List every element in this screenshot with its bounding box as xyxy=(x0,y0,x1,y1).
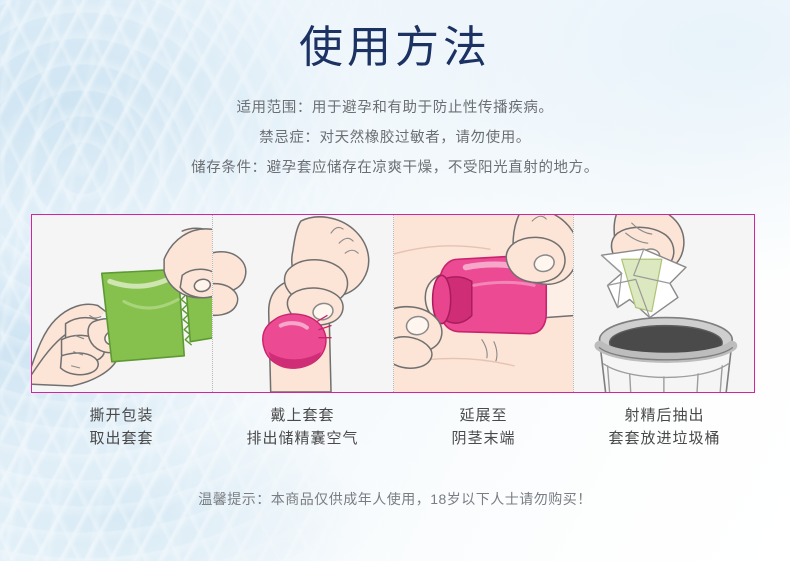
step-caption-2: 戴上套套 排出储精囊空气 xyxy=(212,404,393,450)
step-captions: 撕开包装 取出套套 戴上套套 排出储精囊空气 延展至 阴茎末端 射精后抽出 套套… xyxy=(31,404,755,450)
step-caption-4-line-1: 射精后抽出 xyxy=(574,404,755,427)
step-caption-3: 延展至 阴茎末端 xyxy=(393,404,574,450)
step-panel-3 xyxy=(393,215,574,392)
pinch-tip-illustration xyxy=(213,215,393,392)
step-panel-1 xyxy=(32,215,212,392)
description-line-1: 适用范围：用于避孕和有助于防止性传播疾病。 xyxy=(0,93,790,123)
description-line-2: 禁忌症：对天然橡胶过敏者，请勿使用。 xyxy=(0,123,790,153)
step-caption-1: 撕开包装 取出套套 xyxy=(31,404,212,450)
footer-notice: 温馨提示：本商品仅供成年人使用，18岁以下人士请勿购买！ xyxy=(0,489,790,509)
step-caption-4-line-2: 套套放进垃圾桶 xyxy=(574,427,755,450)
illustration-panels xyxy=(32,215,754,392)
description-line-3: 储存条件：避孕套应储存在凉爽干燥，不受阳光直射的地方。 xyxy=(0,153,790,183)
step-caption-1-line-2: 取出套套 xyxy=(31,427,212,450)
step-caption-3-line-2: 阴茎末端 xyxy=(393,427,574,450)
step-caption-2-line-2: 排出储精囊空气 xyxy=(212,427,393,450)
instruction-illustration-box xyxy=(31,214,755,393)
step-caption-4: 射精后抽出 套套放进垃圾桶 xyxy=(574,404,755,450)
step-caption-1-line-1: 撕开包装 xyxy=(31,404,212,427)
roll-down-illustration xyxy=(394,215,574,392)
step-caption-2-line-1: 戴上套套 xyxy=(212,404,393,427)
description-block: 适用范围：用于避孕和有助于防止性传播疾病。 禁忌症：对天然橡胶过敏者，请勿使用。… xyxy=(0,93,790,183)
step-panel-2 xyxy=(212,215,393,392)
tear-packet-illustration xyxy=(32,215,212,392)
page-title: 使用方法 xyxy=(0,20,790,76)
step-panel-4 xyxy=(573,215,754,392)
dispose-trash-illustration xyxy=(574,215,754,392)
step-caption-3-line-1: 延展至 xyxy=(393,404,574,427)
page-background: 使用方法 适用范围：用于避孕和有助于防止性传播疾病。 禁忌症：对天然橡胶过敏者，… xyxy=(0,0,790,561)
